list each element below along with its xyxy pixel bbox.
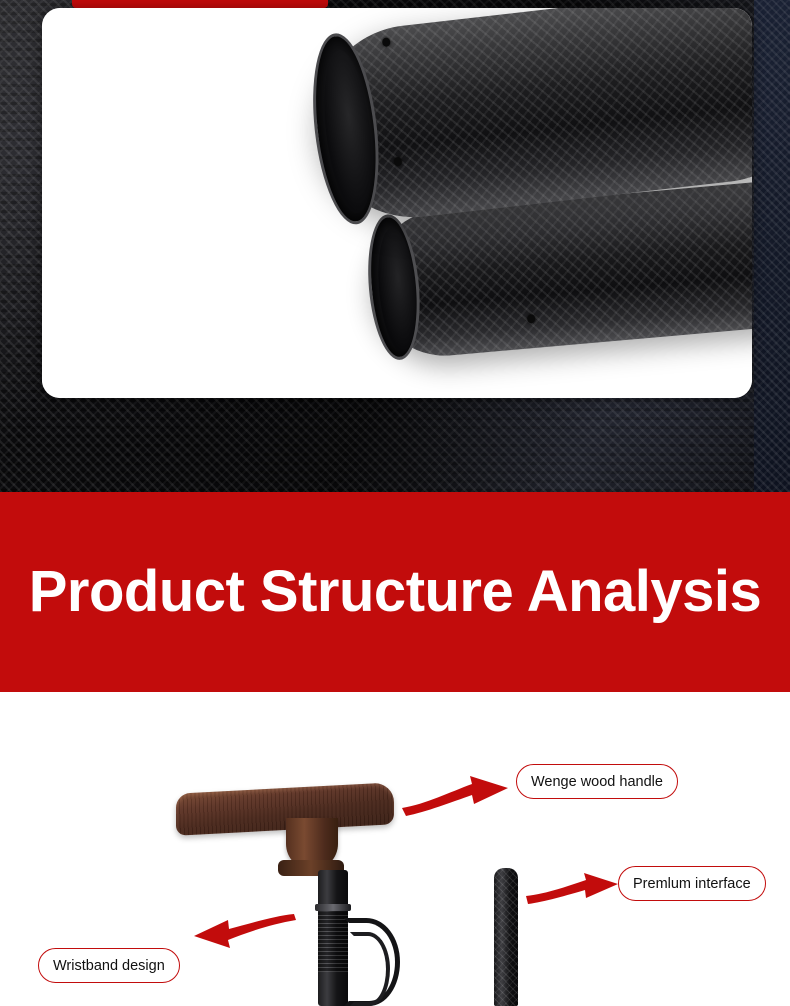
page-title: Product Structure Analysis [29,563,762,621]
callout-wristband-design-label: Wristband design [53,958,165,974]
handle-grip-top [176,782,394,835]
right-blue-carbon-panel [754,0,790,492]
product-detail-page: Product Structure Analysis [0,0,790,1006]
product-photo-card [42,8,752,398]
carbon-tubes-photo [42,8,752,398]
top-hero-section [0,0,790,492]
wrist-strap-inner [350,932,390,1006]
arrow-left-to-wristband-icon [192,914,298,954]
shaft-adjust-ring [315,904,351,911]
arrow-right-to-interface-icon [524,872,620,908]
arrow-right-to-handle-icon [400,774,512,818]
callout-wenge-wood-handle[interactable]: Wenge wood handle [516,764,678,799]
callout-premium-interface[interactable]: Premlum interface [618,866,766,901]
right-panel-weave-texture [754,0,790,492]
callout-wristband-design[interactable]: Wristband design [38,948,180,983]
top-red-tab [72,0,328,8]
callout-premium-interface-label: Premlum interface [633,876,751,892]
wood-grain-texture [176,782,394,835]
section-title-band: Product Structure Analysis [0,492,790,692]
callout-wenge-wood-handle-label: Wenge wood handle [531,774,663,790]
wenge-wood-handle [168,788,408,868]
structure-diagram-section: Wenge wood handle Premlum interface Wris… [0,692,790,1006]
carbon-fiber-lower-tube [494,868,518,1006]
lower-tube-weave [494,868,518,1006]
